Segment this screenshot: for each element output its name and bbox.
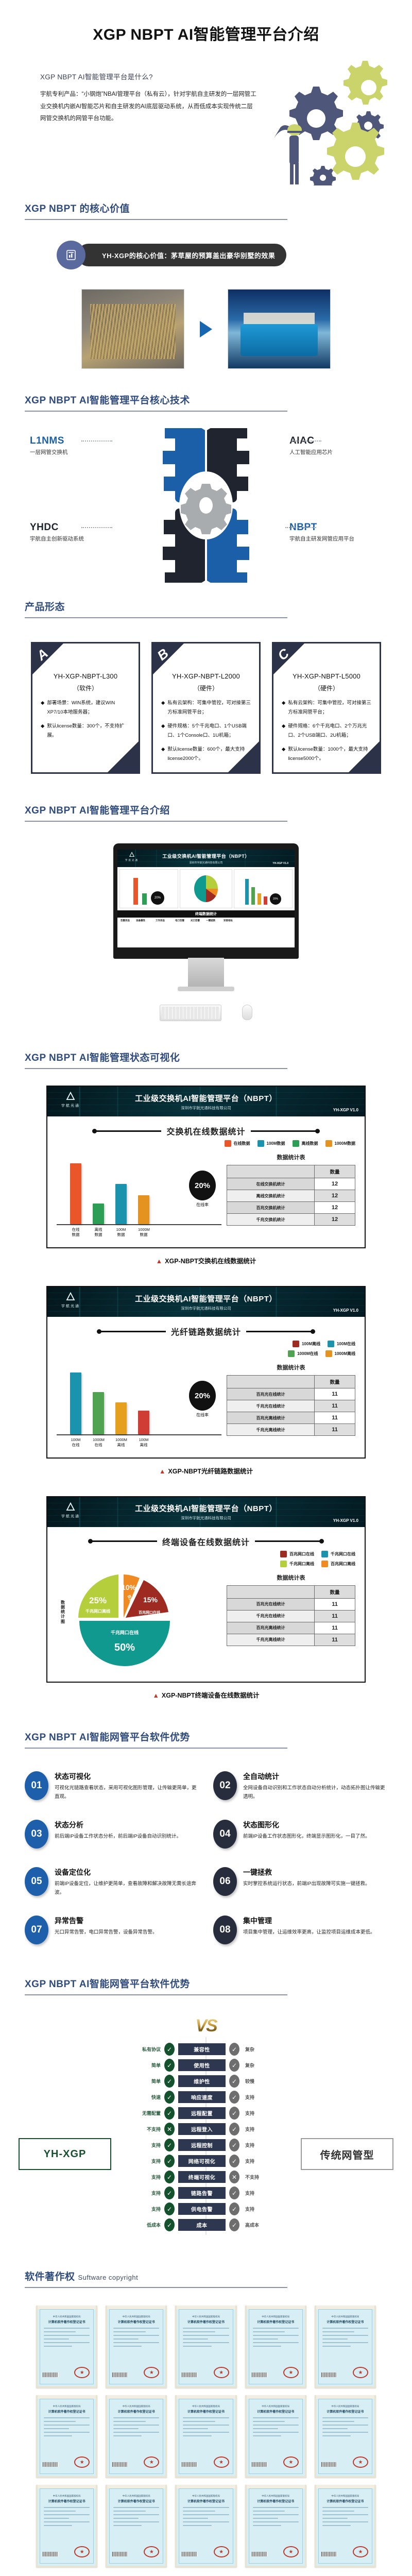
luxury-villa-image xyxy=(228,289,331,369)
cert-seal-icon: ★ xyxy=(74,2546,90,2557)
diamond-bullet-icon: ◆ xyxy=(41,722,44,740)
col-location: 安装地址 xyxy=(224,919,291,922)
diamond-bullet-icon: ◆ xyxy=(161,699,165,717)
cert-seal-icon: ★ xyxy=(283,2456,299,2468)
legend-label: 千兆网口在线 xyxy=(331,1551,355,1557)
cert-seal-icon: ★ xyxy=(214,2456,229,2468)
advantage-number: 04 xyxy=(213,1820,237,1849)
cert-title: 计算机软件著作权登记证书 xyxy=(107,2409,165,2414)
certificate[interactable]: 中华人民共和国国家版权局计算机软件著作权登记证书★ xyxy=(106,2395,167,2478)
legend-swatch xyxy=(293,1140,299,1147)
compare-left-mark: ✓ xyxy=(161,2059,178,2072)
advantage-number: 06 xyxy=(213,1867,237,1896)
advantage-title: 设备定位化 xyxy=(55,1867,199,1877)
compare-right-mark: ✓ xyxy=(226,2187,243,2199)
compare-feature: 远程控制 xyxy=(178,2139,226,2151)
title-rule-left xyxy=(99,1331,166,1332)
pie-label-gigabit-online: 千兆网口在线 xyxy=(111,1630,139,1635)
screen-table-title: 终端数据统计 xyxy=(117,910,295,918)
row-label: 百兆光在线统计 xyxy=(227,1388,315,1400)
legend-swatch xyxy=(280,1551,287,1557)
legend-item: 百兆网口离线 xyxy=(321,1561,355,1567)
product-card-a[interactable]: A YH-XGP-NBPT-L300 （软件） ◆部署场景：WIN系统，建议WI… xyxy=(31,642,140,774)
cert-seal-icon: ★ xyxy=(144,2367,159,2378)
tech-desc: 一层网管交换机 xyxy=(30,448,128,456)
core-value-heading: XGP NBPT 的核心价值 xyxy=(25,201,130,215)
compare-right-mark: ✓ xyxy=(226,2123,243,2136)
advantage-text: 状态分析 前后端IP设备工作状态分析，前后端IP设备自动识别统计。 xyxy=(55,1820,181,1849)
compare-left-mark: ✓ xyxy=(161,2202,178,2215)
compare-left-value: 支持 xyxy=(129,2206,161,2212)
advantage-desc: 全网设备自动识别和工作状态自动分析统计，动态拓扑图让传输更透明。 xyxy=(243,1784,387,1801)
cert-top-bar xyxy=(177,2395,235,2399)
th-count: 数量 xyxy=(315,1585,355,1598)
section-divider xyxy=(25,219,287,220)
cert-seal-icon: ★ xyxy=(283,2367,299,2378)
bar-labels: 100M 在线 1000M 在线 1000M 离线 100M 离线 xyxy=(57,1437,221,1447)
compare-left-value: 简单 xyxy=(129,2062,161,2069)
panel-company: 深圳市宇航光通科技有限公司 xyxy=(135,1515,277,1521)
tech-item-aiac: AIAC 人工智能应用芯片 xyxy=(289,435,387,456)
advantage-title: 异常告警 xyxy=(55,1916,158,1926)
mini-pie-chart xyxy=(180,869,232,908)
hero-paragraph: 宇航专利产品：“小钢炮”NBAI管理平台（私有云），针对宇航自主研发的一层网管工… xyxy=(40,89,257,125)
advantage-text: 状态图形化 前端IP设备工作状态图形化，终端显示图形化，一目了然。 xyxy=(243,1820,370,1849)
compare-row: 支持 ✓ 供电告警 ✓ 支持 xyxy=(129,2201,283,2217)
compare-left-mark: ✓ xyxy=(161,2187,178,2199)
comparison-rows: 私有协议 ✓ 兼容性 ✓ 复杂 简单 ✓ 使用性 ✓ 复杂 简单 ✓ 维护性 xyxy=(129,2041,283,2233)
compare-feature: 兼容性 xyxy=(178,2043,226,2055)
bar xyxy=(70,1372,81,1434)
copyright-heading-cn: 软件著作权 xyxy=(25,2272,75,2282)
certificate[interactable]: 中华人民共和国国家版权局计算机软件著作权登记证书★ xyxy=(36,2306,97,2388)
rate-value: 20% xyxy=(189,1381,216,1411)
legend-label: 百兆网口在线 xyxy=(289,1551,314,1557)
chart-title-row: 光纤链路数据统计 xyxy=(57,1325,355,1337)
connector-line xyxy=(81,527,112,528)
chart-panel-1: 🜂 宇航光通 工业级交换机AI智能管理平台（NBPT） 深圳市宇航光通科技有限公… xyxy=(46,1086,366,1248)
compare-row: 简单 ✓ 维护性 ✓ 较慢 xyxy=(129,2073,283,2089)
check-icon: ✓ xyxy=(164,2218,175,2231)
tech-item-l1nms: L1NMS 一层网管交换机 xyxy=(30,435,128,456)
brand-logo: 🜂 宇航光通 xyxy=(55,1291,87,1309)
panel-company: 深圳市宇航光通科技有限公司 xyxy=(135,1306,277,1311)
panel-title-main: 工业级交换机AI智能管理平台（NBPT） xyxy=(135,1503,277,1514)
gear-olive-large xyxy=(344,61,387,105)
cert-barcode xyxy=(321,2372,337,2377)
diamond-bullet-icon: ◆ xyxy=(41,699,44,717)
chart-area: 数据统计图 50% 千兆网口在线 25% 千兆网口离线 xyxy=(57,1573,355,1671)
chart-table-wrap: 数据统计表 数量 百兆光在线统计11 千兆光在线统计11 百兆光离线统计11 千… xyxy=(227,1363,355,1447)
check-icon: ✓ xyxy=(229,2139,239,2151)
chart-plot: 数据统计图 50% 千兆网口在线 25% 千兆网口离线 xyxy=(57,1573,221,1671)
pie-value-100m-offline: 10% xyxy=(122,1583,136,1591)
stat-table-title: 数据统计表 xyxy=(227,1573,355,1582)
tech-desc: 人工智能应用芯片 xyxy=(289,448,387,456)
compare-right-mark: ✓ xyxy=(226,2107,243,2120)
legend-swatch xyxy=(325,1140,332,1147)
bar-label: 100M 离线 xyxy=(138,1437,149,1447)
card-bullet: ◆硬件规格：5个千兆电口、1个USB端口、1个Console口、1U机箱； xyxy=(161,722,251,740)
legend-label: 100M离线 xyxy=(302,1341,320,1347)
table-row: 在线交换机统计12 xyxy=(227,1178,355,1190)
chart-title: 交换机在线数据统计 xyxy=(166,1125,245,1137)
inner-gear-icon xyxy=(181,484,231,534)
cert-seal-icon: ★ xyxy=(353,2367,368,2378)
bar xyxy=(115,1184,127,1224)
compare-feature: 使用性 xyxy=(178,2059,226,2071)
check-icon: ✓ xyxy=(164,2139,175,2151)
cert-body-lines xyxy=(44,2507,90,2529)
certificate[interactable]: 中华人民共和国国家版权局计算机软件著作权登记证书★ xyxy=(106,2306,167,2388)
monitor-base xyxy=(178,987,234,991)
cert-top-bar xyxy=(107,2395,165,2399)
panel-body: 终端设备在线数据统计 百兆网口在线 千兆网口在线 千兆网口离线 百兆网口离线 数… xyxy=(47,1527,365,1682)
panel-company: 深圳市宇航光通科技有限公司 xyxy=(135,1105,277,1111)
compare-left-value: 无需配置 xyxy=(129,2110,161,2116)
cert-authority: 中华人民共和国国家版权局 xyxy=(247,2315,305,2318)
title-rule-left xyxy=(94,1130,161,1132)
mini-rate-badge: 20% xyxy=(270,893,281,905)
row-label: 千兆光在线统计 xyxy=(227,1610,315,1622)
cert-title: 计算机软件著作权登记证书 xyxy=(247,2319,305,2324)
legend-label: 千兆网口离线 xyxy=(289,1561,314,1567)
bar-labels: 在线数据 离线数据 100M数据 1000M数据 xyxy=(57,1227,221,1237)
cert-body-lines xyxy=(183,2507,229,2529)
compare-right-mark: ✓ xyxy=(226,2202,243,2215)
cert-top-bar xyxy=(38,2306,96,2309)
connector-line xyxy=(81,440,112,442)
pie-chart: 数据统计图 50% 千兆网口在线 25% 千兆网口离线 xyxy=(68,1573,186,1671)
product-forms-heading: 产品形态 xyxy=(25,599,65,613)
bar-column xyxy=(138,1411,149,1434)
bar-column xyxy=(93,1392,104,1434)
table-row: 千兆光在线统计11 xyxy=(227,1400,355,1412)
card-inner: A YH-XGP-NBPT-L300 （软件） ◆部署场景：WIN系统，建议WI… xyxy=(32,643,139,772)
brand-name: 宇航光通 xyxy=(121,859,143,862)
copyright-heading-wrap: 软件著作权Suftware copyright xyxy=(0,2269,412,2283)
screen-panel: 🜂 宇航光通 工业级交换机AI智能管理平台（NBPT） 深圳市宇航光通科技有限公… xyxy=(117,850,295,924)
cross-icon: ✕ xyxy=(229,2171,239,2183)
section-divider xyxy=(25,1994,287,1995)
copyright-heading-en: Suftware copyright xyxy=(78,2274,139,2281)
compare-feature: 响应速度 xyxy=(178,2091,226,2103)
cert-barcode xyxy=(182,2372,197,2377)
cert-authority: 中华人民共和国国家版权局 xyxy=(177,2495,235,2498)
flame-icon: 🜂 xyxy=(55,1091,87,1102)
bar xyxy=(138,1195,149,1224)
certificate[interactable]: 中华人民共和国国家版权局计算机软件著作权登记证书★ xyxy=(175,2395,236,2478)
product-cards: A YH-XGP-NBPT-L300 （软件） ◆部署场景：WIN系统，建议WI… xyxy=(0,642,412,774)
cert-title: 计算机软件著作权登记证书 xyxy=(107,2319,165,2324)
legend-item: 百兆网口在线 xyxy=(280,1551,314,1557)
chart-legend: 100M离线 100M在线 1000M在线 1000M离线 xyxy=(265,1341,355,1357)
legend-label: 1000M在线 xyxy=(297,1351,318,1357)
col-port-alarm: 电口告警 xyxy=(175,919,188,922)
compare-left-value: 支持 xyxy=(129,2142,161,2148)
card-type: （软件） xyxy=(41,684,130,692)
panel-title-main: 工业级交换机AI智能管理平台（NBPT） xyxy=(162,853,250,859)
card-inner: B YH-XGP-NBPT-L2000 （硬件） ◆私有云架构：可集中管控，可对… xyxy=(153,643,259,772)
bar xyxy=(93,1392,104,1434)
monitor-mockup: 🜂 宇航光通 工业级交换机AI智能管理平台（NBPT） 深圳市宇航光通科技有限公… xyxy=(0,843,412,1021)
compare-row: 低成本 ✓ 成本 ✓ 高成本 xyxy=(129,2217,283,2233)
panel-version: YH-XGP V1.0 xyxy=(333,1518,358,1523)
advantage-item-02: 02 全自动统计 全网设备自动识别和工作状态自动分析统计，动态拓扑图让传输更透明… xyxy=(213,1771,387,1801)
panel-header: 🜂 宇航光通 工业级交换机AI智能管理平台（NBPT） 深圳市宇航光通科技有限公… xyxy=(47,1497,365,1527)
certificate[interactable]: 中华人民共和国国家版权局计算机软件著作权登记证书★ xyxy=(315,2306,376,2388)
card-bullet-text: 硬件规格：6个千兆电口、2个万兆光口、2个USB端口、2U机箱； xyxy=(288,722,371,740)
hero-section: XGP NBPT AI智能管理平台介绍 XGP NBPT AI智能管理平台是什么… xyxy=(0,0,412,201)
table-row: 离线交换机统计12 xyxy=(227,1190,355,1202)
card-corner-bottom-right xyxy=(108,741,139,772)
advantage-text: 状态可视化 可视化光链路查看状态，采用可视化图形管理，让传输更简单，更直观。 xyxy=(55,1771,199,1801)
bar xyxy=(70,1163,81,1224)
row-label: 百兆光离线统计 xyxy=(227,1622,315,1634)
peripherals xyxy=(160,1005,252,1021)
row-value: 11 xyxy=(315,1424,355,1436)
mini-bar-chart: 20% xyxy=(119,869,178,908)
table-row: 千兆光离线统计11 xyxy=(227,1634,355,1646)
cert-barcode xyxy=(43,2462,58,2467)
th-blank xyxy=(227,1376,315,1388)
title-rule-right xyxy=(255,1540,322,1542)
screen-table: 告警状态 设备属性 工作状态 电口告警 光口告警 一键拯救 安装地址 xyxy=(117,918,295,924)
chart-area: 在线数据 离线数据 100M数据 1000M数据 20% 在线率 数据统计表 xyxy=(57,1153,355,1237)
advantage-item-03: 03 状态分析 前后端IP设备工作状态分析，前后端IP设备自动识别统计。 xyxy=(25,1820,199,1849)
core-value-pill-text: YH-XGP的核心价值：茅草屋的预算盖出豪华别墅的效果 xyxy=(77,244,286,266)
row-label: 百兆交换机统计 xyxy=(227,1202,315,1214)
monitor-frame: 🜂 宇航光通 工业级交换机AI智能管理平台（NBPT） 深圳市宇航光通科技有限公… xyxy=(113,843,299,959)
compare-right-mark: ✓ xyxy=(226,2043,243,2056)
legend-item: 千兆网口离线 xyxy=(280,1561,314,1567)
compare-left-mark: ✓ xyxy=(161,2043,178,2056)
advantage-number: 08 xyxy=(213,1916,237,1944)
table-row: 百兆光在线统计11 xyxy=(227,1598,355,1610)
legend-swatch xyxy=(325,1350,332,1357)
compare-row: 支持 ✓ 终端可视化 ✕ 不支持 xyxy=(129,2169,283,2185)
cert-top-bar xyxy=(247,2306,305,2309)
cert-authority: 中华人民共和国国家版权局 xyxy=(247,2405,305,2408)
table-row: 百兆交换机统计12 xyxy=(227,1202,355,1214)
certificate[interactable]: 中华人民共和国国家版权局计算机软件著作权登记证书★ xyxy=(245,2306,306,2388)
cert-top-bar xyxy=(247,2485,305,2488)
chart-panel-3: 🜂 宇航光通 工业级交换机AI智能管理平台（NBPT） 深圳市宇航光通科技有限公… xyxy=(46,1496,366,1683)
card-bullet: ◆私有云架构：可集中管控，可对接第三方标准网管平台； xyxy=(282,699,371,717)
row-label: 离线交换机统计 xyxy=(227,1190,315,1202)
pie-value-100m-online: 15% xyxy=(143,1596,158,1604)
certificate[interactable]: 中华人民共和国国家版权局计算机软件著作权登记证书★ xyxy=(245,2485,306,2567)
check-icon: ✓ xyxy=(164,2171,175,2183)
compare-feature: 供电告警 xyxy=(178,2203,226,2215)
connector-line xyxy=(285,527,316,528)
product-card-b[interactable]: B YH-XGP-NBPT-L2000 （硬件） ◆私有云架构：可集中管控，可对… xyxy=(151,642,261,774)
bar-label: 100M 在线 xyxy=(70,1437,81,1447)
legend-label: 1000M离线 xyxy=(335,1351,355,1357)
core-value-pill-wrap: YH-XGP的核心价值：茅草屋的预算盖出豪华别墅的效果 xyxy=(57,241,412,269)
chart-title: 光纤链路数据统计 xyxy=(171,1325,241,1337)
cert-authority: 中华人民共和国国家版权局 xyxy=(38,2315,96,2318)
triangle-icon: ▲ xyxy=(156,1258,162,1265)
title-rule-right xyxy=(246,1331,313,1332)
row-value: 11 xyxy=(315,1634,355,1646)
chart-plot: 100M 在线 1000M 在线 1000M 离线 100M 离线 20% 在线… xyxy=(57,1363,221,1447)
panel-company: 深圳市宇航光通科技有限公司 xyxy=(162,861,250,865)
mini-bar-chart-2: 20% xyxy=(234,869,293,908)
advantage-desc: 项目集中管理，让运维效率更高，让监控项目运维成本更低。 xyxy=(243,1928,375,1937)
mini-bar xyxy=(142,893,147,905)
tech-item-yhdc: YHDC 宇航自主创新驱动系统 xyxy=(30,522,128,543)
advantage-item-08: 08 集中管理 项目集中管理，让运维效率更高，让监控项目运维成本更低。 xyxy=(213,1916,387,1944)
certificate[interactable]: 中华人民共和国国家版权局计算机软件著作权登记证书★ xyxy=(245,2395,306,2478)
screen-panel-header: 🜂 宇航光通 工业级交换机AI智能管理平台（NBPT） 深圳市宇航光通科技有限公… xyxy=(117,850,295,867)
cert-top-bar xyxy=(177,2485,235,2488)
compare-row: 无需配置 ✓ 远程配置 ✓ 支持 xyxy=(129,2105,283,2121)
certificate[interactable]: 中华人民共和国国家版权局计算机软件著作权登记证书★ xyxy=(315,2395,376,2478)
product-card-c[interactable]: C YH-XGP-NBPT-L5000 （硬件） ◆私有云架构：可集中管控，可对… xyxy=(272,642,381,774)
compare-left-value: 支持 xyxy=(129,2158,161,2164)
advantage-title: 状态可视化 xyxy=(55,1771,199,1782)
certificate[interactable]: 中华人民共和国国家版权局计算机软件著作权登记证书★ xyxy=(175,2306,236,2388)
check-icon: ✓ xyxy=(164,2043,175,2056)
online-rate-badge: 20% 在线率 xyxy=(186,1171,218,1208)
bar-label: 1000M 离线 xyxy=(115,1437,127,1447)
caption-text: XGP-NBPT终端设备在线数据统计 xyxy=(162,1692,260,1699)
chart-panel-2: 🜂 宇航光通 工业级交换机AI智能管理平台（NBPT） 深圳市宇航光通科技有限公… xyxy=(46,1286,366,1459)
cert-title: 计算机软件著作权登记证书 xyxy=(38,2499,96,2503)
chart-title-row: 终端设备在线数据统计 xyxy=(57,1535,355,1548)
chart-title-row: 交换机在线数据统计 xyxy=(57,1125,355,1137)
cert-title: 计算机软件著作权登记证书 xyxy=(316,2499,374,2503)
card-corner-bottom-right xyxy=(228,741,259,772)
legend-swatch xyxy=(225,1140,231,1147)
comparison-table: YH-XGP 传统网管型 私有协议 ✓ 兼容性 ✓ 复杂 简单 ✓ 使用性 ✓ … xyxy=(0,2041,412,2243)
table-row: 百兆光在线统计11 xyxy=(227,1388,355,1400)
compare-feature: 成本 xyxy=(178,2219,226,2231)
screen-mini-charts: 20% 20% xyxy=(117,867,295,910)
card-bullet-text: 私有云架构：可集中管控，可对接第三方标准网管平台； xyxy=(167,699,251,717)
advantage-item-05: 05 设备定位化 前端IP设备定位，让维护更简单，查看故障和解决故障无需长途奔波… xyxy=(25,1867,199,1897)
advantage-item-01: 01 状态可视化 可视化光链路查看状态，采用可视化图形管理，让传输更简单，更直观… xyxy=(25,1771,199,1801)
col-device: 设备属性 xyxy=(136,919,153,922)
check-icon: ✓ xyxy=(229,2218,239,2231)
mini-bar xyxy=(264,896,267,905)
cert-body-lines xyxy=(113,2417,159,2439)
cert-body-lines xyxy=(322,2328,368,2349)
bar-label: 1000M 在线 xyxy=(93,1437,104,1447)
legend-label: 100M数据 xyxy=(267,1141,285,1146)
legend-swatch xyxy=(288,1350,295,1357)
cert-top-bar xyxy=(316,2395,374,2399)
certificate[interactable]: 中华人民共和国国家版权局计算机软件著作权登记证书★ xyxy=(315,2485,376,2567)
cert-title: 计算机软件著作权登记证书 xyxy=(316,2319,374,2324)
chart-title: 终端设备在线数据统计 xyxy=(162,1535,250,1548)
pie-value-gigabit-online: 50% xyxy=(114,1642,135,1653)
legend-label: 1000M数据 xyxy=(335,1141,355,1146)
brand-name: 宇航光通 xyxy=(55,1103,87,1108)
col-alarm-status: 告警状态 xyxy=(121,919,134,922)
diamond-bullet-icon: ◆ xyxy=(282,699,285,717)
table-header-row: 数量 xyxy=(227,1376,355,1388)
advantages-grid: 01 状态可视化 可视化光链路查看状态，采用可视化图形管理，让传输更简单，更直观… xyxy=(25,1771,387,1945)
advantage-title: 集中管理 xyxy=(243,1916,375,1926)
cert-body-lines xyxy=(183,2328,229,2349)
compare-right-mark: ✓ xyxy=(226,2155,243,2167)
cert-body-lines xyxy=(253,2328,299,2349)
cert-body-lines xyxy=(44,2328,90,2349)
cert-barcode xyxy=(252,2462,267,2467)
tech-item-nbpt: NBPT 宇航自主研发网管应用平台 xyxy=(289,522,387,543)
advantage-desc: 光口异常告警，电口异常告警，设备异常告警。 xyxy=(55,1928,158,1937)
flame-icon: 🜂 xyxy=(55,1291,87,1302)
cert-authority: 中华人民共和国国家版权局 xyxy=(316,2315,374,2318)
cert-title: 计算机软件著作权登记证书 xyxy=(316,2409,374,2414)
card-bullet: ◆硬件规格：6个千兆电口、2个万兆光口、2个USB端口、2U机箱； xyxy=(282,722,371,740)
gear-navy-tiny xyxy=(310,166,336,185)
cert-authority: 中华人民共和国国家版权局 xyxy=(177,2315,235,2318)
cert-body-lines xyxy=(183,2417,229,2439)
table-row: 百兆光离线统计11 xyxy=(227,1412,355,1424)
check-icon: ✓ xyxy=(229,2187,239,2199)
advantage-desc: 前后端IP设备工作状态分析，前后端IP设备自动识别统计。 xyxy=(55,1833,181,1841)
legend-swatch xyxy=(257,1140,264,1147)
page-title: XGP NBPT AI智能管理平台介绍 xyxy=(0,0,412,44)
cert-seal-icon: ★ xyxy=(353,2456,368,2468)
product-landing-page: XGP NBPT AI智能管理平台介绍 XGP NBPT AI智能管理平台是什么… xyxy=(0,0,412,2576)
compare-right-value: 复杂 xyxy=(243,2046,275,2053)
compare-left-mark: ✓ xyxy=(161,2139,178,2151)
certificate[interactable]: 中华人民共和国国家版权局计算机软件著作权登记证书★ xyxy=(175,2485,236,2567)
compare-right-value: 支持 xyxy=(243,2206,275,2212)
cert-body-lines xyxy=(322,2507,368,2529)
th-count: 数量 xyxy=(315,1165,355,1178)
compare-row: 快速 ✓ 响应速度 ✓ 支持 xyxy=(129,2089,283,2105)
cert-body-lines xyxy=(113,2328,159,2349)
section-divider xyxy=(25,411,287,412)
panel-body: 交换机在线数据统计 在线数据 100M数据 离线数据 1000M数据 xyxy=(47,1116,365,1247)
certificate[interactable]: 中华人民共和国国家版权局计算机软件著作权登记证书★ xyxy=(36,2485,97,2567)
row-value: 11 xyxy=(315,1610,355,1622)
panel-version: YH-XGP V1.0 xyxy=(333,1308,358,1313)
section-divider xyxy=(25,1068,287,1069)
bar-column xyxy=(70,1163,81,1224)
th-blank xyxy=(227,1585,315,1598)
compare-left-mark: ✕ xyxy=(161,2123,178,2136)
caption-text: XGP-NBPT光纤链路数据统计 xyxy=(168,1468,253,1475)
legend-item: 100M离线 xyxy=(293,1341,320,1347)
cert-top-bar xyxy=(247,2395,305,2399)
advantage-text: 全自动统计 全网设备自动识别和工作状态自动分析统计，动态拓扑图让传输更透明。 xyxy=(243,1771,387,1801)
certificate[interactable]: 中华人民共和国国家版权局计算机软件著作权登记证书★ xyxy=(106,2485,167,2567)
screen-table-header: 告警状态 设备属性 工作状态 电口告警 光口告警 一键拯救 安装地址 xyxy=(119,919,293,923)
tech-code: L1NMS xyxy=(30,435,128,447)
compare-row: 不支持 ✕ 远程登入 ✓ 支持 xyxy=(129,2121,283,2137)
advantages-heading: XGP NBPT AI智能网管平台软件优势 xyxy=(25,1730,190,1743)
certificate[interactable]: 中华人民共和国国家版权局计算机软件著作权登记证书★ xyxy=(36,2395,97,2478)
brand-name: 宇航光通 xyxy=(55,1514,87,1519)
cert-top-bar xyxy=(316,2306,374,2309)
cert-authority: 中华人民共和国国家版权局 xyxy=(316,2405,374,2408)
cert-barcode xyxy=(252,2372,267,2377)
advantage-text: 设备定位化 前端IP设备定位，让维护更简单，查看故障和解决故障无需长途奔波。 xyxy=(55,1867,199,1897)
tech-code: YHDC xyxy=(30,522,128,533)
cross-icon: ✕ xyxy=(164,2123,175,2136)
row-label: 千兆交换机统计 xyxy=(227,1214,315,1226)
cert-seal-icon: ★ xyxy=(214,2546,229,2557)
cert-authority: 中华人民共和国国家版权局 xyxy=(107,2495,165,2498)
core-value-heading-wrap: XGP NBPT 的核心价值 xyxy=(0,201,412,215)
connector-line xyxy=(290,440,321,442)
